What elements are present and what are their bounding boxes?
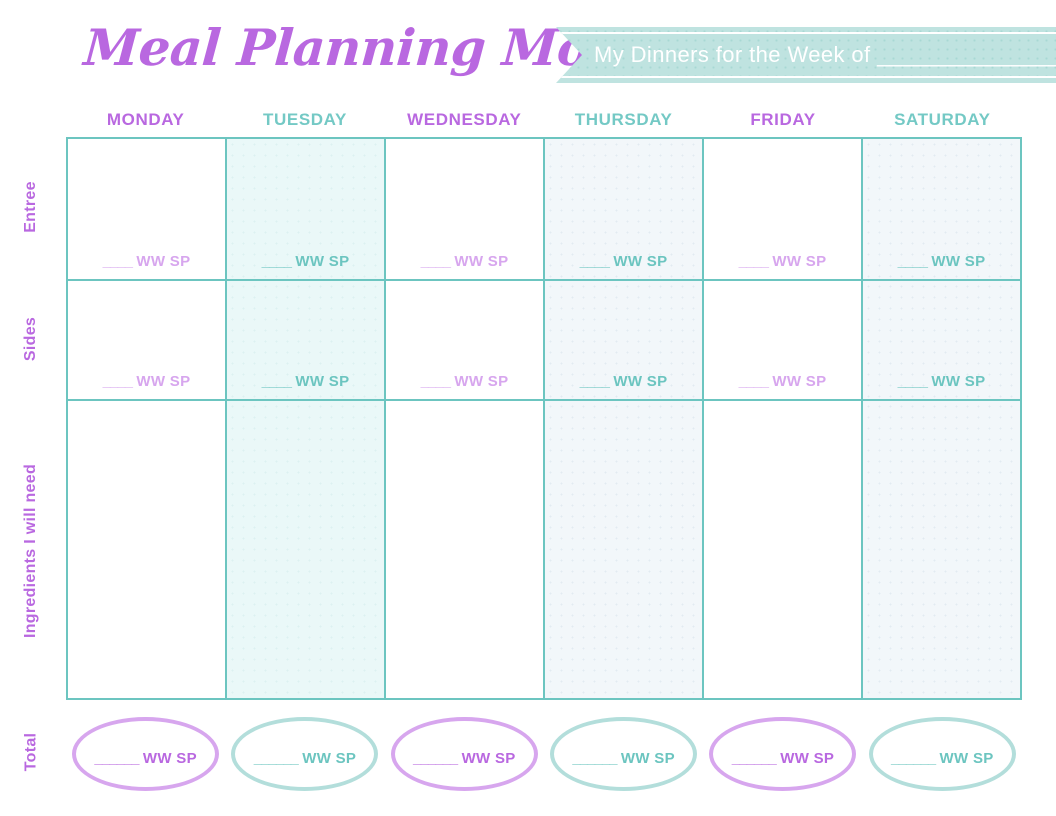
total-cell-wednesday: ______ WW SP (385, 708, 544, 800)
points-sides-friday[interactable]: ____ WW SP (704, 373, 861, 390)
day-header-wednesday: WEDNESDAY (385, 110, 544, 134)
day-header-tuesday: TUESDAY (225, 110, 384, 134)
grid-row-entree: ____ WW SP ____ WW SP ____ WW SP ____ WW… (68, 139, 1020, 279)
total-blank: ______ (94, 750, 138, 767)
points-unit: WW SP (768, 253, 826, 270)
points-blank: ____ (739, 253, 768, 270)
points-blank: ____ (580, 373, 609, 390)
total-cell-monday: ______ WW SP (66, 708, 225, 800)
cell-ingredients-tuesday[interactable] (227, 401, 386, 698)
points-entree-monday[interactable]: ____ WW SP (68, 253, 225, 270)
row-label-entree: Entree (0, 137, 62, 277)
total-points-wednesday[interactable]: ______ WW SP (413, 750, 516, 767)
total-blank: ______ (732, 750, 776, 767)
row-label-ingredients-text: Ingredients I will need (22, 463, 40, 637)
points-entree-tuesday[interactable]: ____ WW SP (227, 253, 384, 270)
page-header: Meal Planning Mommies My Dinners for the… (0, 0, 1056, 105)
points-blank: ____ (898, 253, 927, 270)
cell-ingredients-monday[interactable] (68, 401, 227, 698)
cell-entree-thursday[interactable]: ____ WW SP (545, 139, 704, 279)
cell-entree-friday[interactable]: ____ WW SP (704, 139, 863, 279)
points-unit: WW SP (609, 253, 667, 270)
cell-entree-saturday[interactable]: ____ WW SP (863, 139, 1020, 279)
cell-entree-wednesday[interactable]: ____ WW SP (386, 139, 545, 279)
total-unit: WW SP (138, 750, 196, 767)
total-cell-saturday: ______ WW SP (863, 708, 1022, 800)
total-points-monday[interactable]: ______ WW SP (94, 750, 197, 767)
points-sides-saturday[interactable]: ____ WW SP (863, 373, 1020, 390)
points-sides-tuesday[interactable]: ____ WW SP (227, 373, 384, 390)
total-unit: WW SP (457, 750, 515, 767)
total-oval-wednesday[interactable]: ______ WW SP (391, 717, 538, 791)
total-blank: ______ (254, 750, 298, 767)
points-sides-monday[interactable]: ____ WW SP (68, 373, 225, 390)
day-header-monday: MONDAY (66, 110, 225, 134)
points-unit: WW SP (450, 253, 508, 270)
points-blank: ____ (739, 373, 768, 390)
row-label-entree-text: Entree (22, 181, 40, 233)
meal-planner-grid: ____ WW SP ____ WW SP ____ WW SP ____ WW… (66, 137, 1022, 700)
cell-entree-tuesday[interactable]: ____ WW SP (227, 139, 386, 279)
cell-ingredients-wednesday[interactable] (386, 401, 545, 698)
cell-sides-friday[interactable]: ____ WW SP (704, 281, 863, 399)
total-cell-thursday: ______ WW SP (544, 708, 703, 800)
cell-sides-monday[interactable]: ____ WW SP (68, 281, 227, 399)
points-blank: ____ (580, 253, 609, 270)
total-unit: WW SP (298, 750, 356, 767)
total-unit: WW SP (616, 750, 674, 767)
cell-sides-thursday[interactable]: ____ WW SP (545, 281, 704, 399)
total-blank: ______ (572, 750, 616, 767)
week-banner-label: My Dinners for the Week of (594, 42, 877, 67)
cell-sides-wednesday[interactable]: ____ WW SP (386, 281, 545, 399)
row-label-total-text: Total (22, 733, 40, 772)
points-entree-saturday[interactable]: ____ WW SP (863, 253, 1020, 270)
day-header-friday: FRIDAY (703, 110, 862, 134)
cell-entree-monday[interactable]: ____ WW SP (68, 139, 227, 279)
total-points-thursday[interactable]: ______ WW SP (572, 750, 675, 767)
points-blank: ____ (421, 253, 450, 270)
cell-ingredients-friday[interactable] (704, 401, 863, 698)
total-oval-monday[interactable]: ______ WW SP (72, 717, 219, 791)
total-oval-saturday[interactable]: ______ WW SP (869, 717, 1016, 791)
points-entree-thursday[interactable]: ____ WW SP (545, 253, 702, 270)
points-unit: WW SP (609, 373, 667, 390)
points-entree-friday[interactable]: ____ WW SP (704, 253, 861, 270)
grid-row-ingredients (68, 401, 1020, 698)
day-header-thursday: THURSDAY (544, 110, 703, 134)
totals-row: ______ WW SP ______ WW SP ______ WW SP _… (66, 708, 1022, 800)
total-unit: WW SP (935, 750, 993, 767)
cell-ingredients-saturday[interactable] (863, 401, 1020, 698)
total-cell-tuesday: ______ WW SP (225, 708, 384, 800)
points-blank: ____ (262, 253, 291, 270)
row-label-total: Total (0, 706, 62, 798)
row-label-sides-text: Sides (22, 317, 40, 361)
day-header-row: MONDAY TUESDAY WEDNESDAY THURSDAY FRIDAY… (66, 110, 1022, 134)
total-oval-friday[interactable]: ______ WW SP (709, 717, 856, 791)
points-blank: ____ (103, 253, 132, 270)
points-unit: WW SP (291, 253, 349, 270)
week-date-blank[interactable]: _______________ (877, 42, 1056, 67)
points-blank: ____ (262, 373, 291, 390)
grid-row-sides: ____ WW SP ____ WW SP ____ WW SP ____ WW… (68, 279, 1020, 401)
points-blank: ____ (103, 373, 132, 390)
total-points-tuesday[interactable]: ______ WW SP (254, 750, 357, 767)
cell-sides-saturday[interactable]: ____ WW SP (863, 281, 1020, 399)
week-banner-text: My Dinners for the Week of _____________… (594, 42, 1056, 68)
total-blank: ______ (891, 750, 935, 767)
day-header-saturday: SATURDAY (863, 110, 1022, 134)
cell-sides-tuesday[interactable]: ____ WW SP (227, 281, 386, 399)
total-oval-thursday[interactable]: ______ WW SP (550, 717, 697, 791)
points-sides-wednesday[interactable]: ____ WW SP (386, 373, 543, 390)
total-oval-tuesday[interactable]: ______ WW SP (231, 717, 378, 791)
points-unit: WW SP (291, 373, 349, 390)
points-blank: ____ (421, 373, 450, 390)
row-label-ingredients: Ingredients I will need (0, 401, 62, 700)
points-unit: WW SP (450, 373, 508, 390)
points-unit: WW SP (927, 373, 985, 390)
total-points-saturday[interactable]: ______ WW SP (891, 750, 994, 767)
points-entree-wednesday[interactable]: ____ WW SP (386, 253, 543, 270)
total-blank: ______ (413, 750, 457, 767)
total-unit: WW SP (776, 750, 834, 767)
total-cell-friday: ______ WW SP (703, 708, 862, 800)
points-unit: WW SP (927, 253, 985, 270)
points-blank: ____ (898, 373, 927, 390)
total-points-friday[interactable]: ______ WW SP (732, 750, 835, 767)
points-unit: WW SP (768, 373, 826, 390)
cell-ingredients-thursday[interactable] (545, 401, 704, 698)
points-unit: WW SP (132, 253, 190, 270)
row-label-sides: Sides (0, 279, 62, 399)
points-sides-thursday[interactable]: ____ WW SP (545, 373, 702, 390)
points-unit: WW SP (132, 373, 190, 390)
